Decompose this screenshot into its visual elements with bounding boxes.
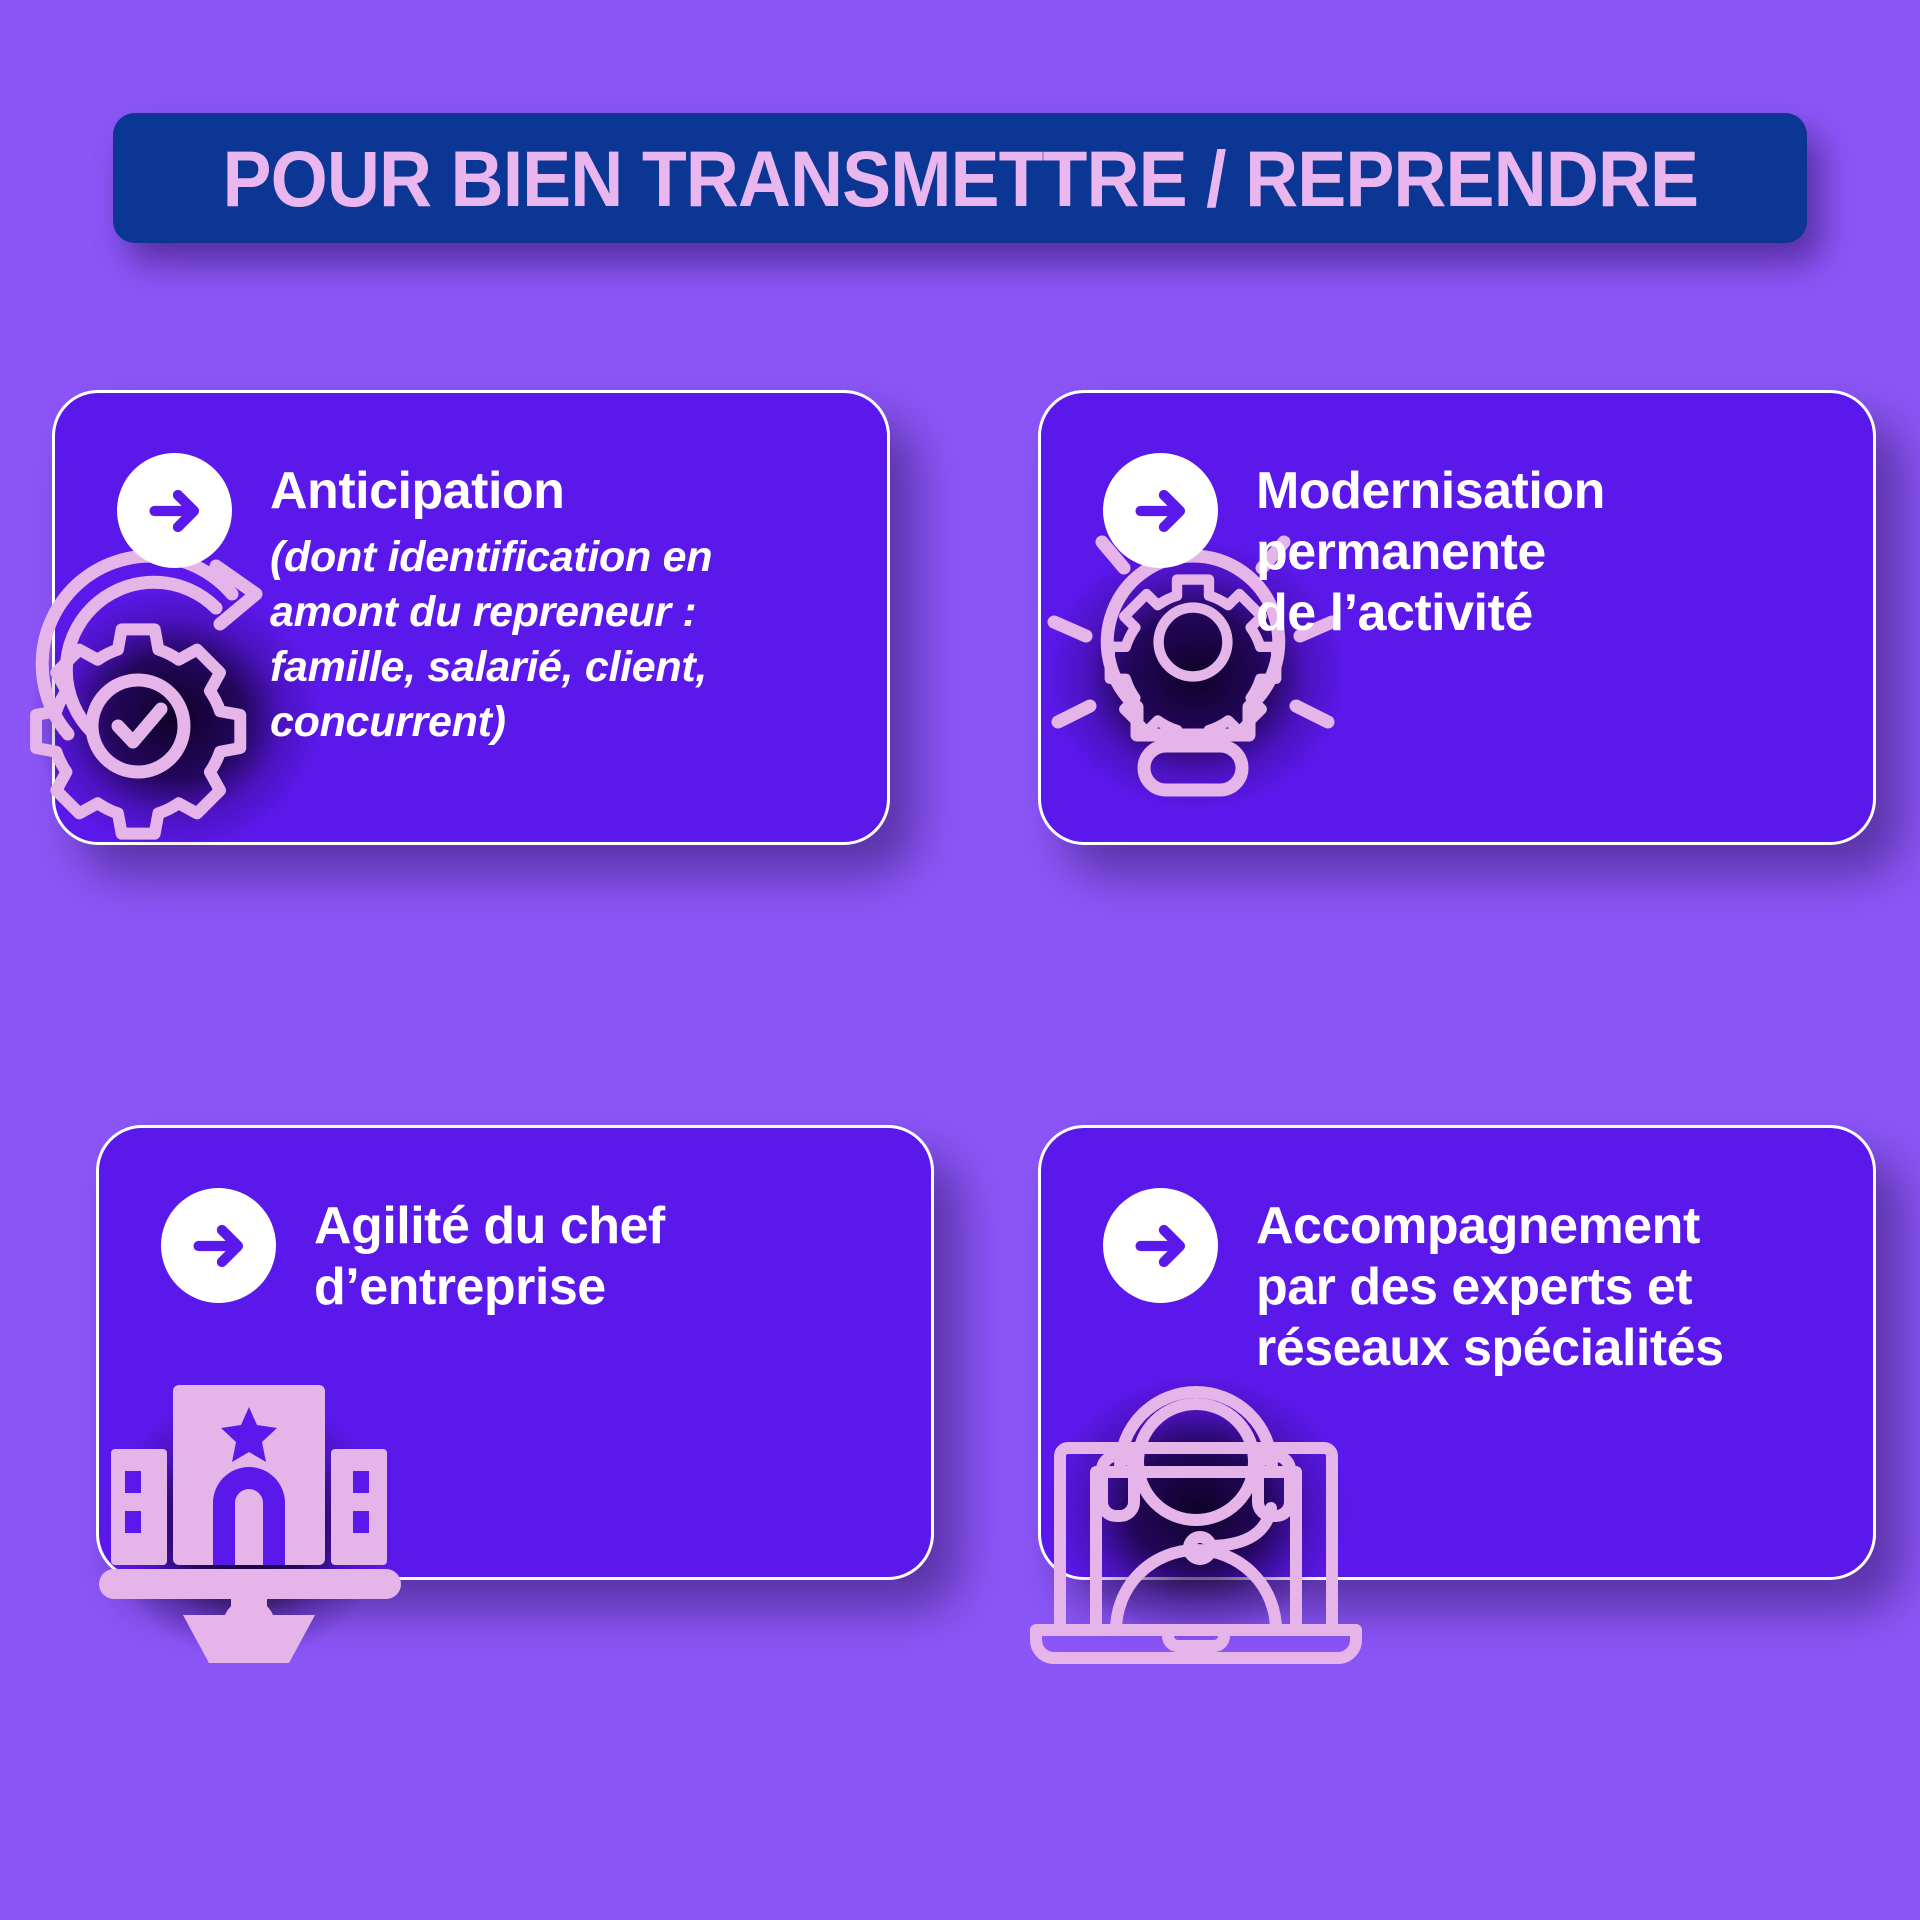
card-subtitle: (dont identification en amont du reprene… [270,530,712,750]
arrow-right-icon[interactable] [1103,453,1218,568]
cards-row-1: Anticipation (dont identification en amo… [0,390,1920,870]
card-title: Modernisation permanente de l’activité [1256,461,1605,643]
page-title-banner: POUR BIEN TRANSMETTRE / REPRENDRE [113,113,1807,243]
page-title: POUR BIEN TRANSMETTRE / REPRENDRE [222,139,1698,218]
card-text-block: Anticipation (dont identification en amo… [270,453,712,750]
card-modernisation: Modernisation permanente de l’activité [1038,390,1876,845]
card-agilite: Agilité du chef d’entreprise [96,1125,934,1580]
arrow-right-icon[interactable] [161,1188,276,1303]
card-text-block: Modernisation permanente de l’activité [1256,453,1605,651]
arrow-right-icon[interactable] [1103,1188,1218,1303]
card-anticipation: Anticipation (dont identification en amo… [52,390,890,845]
card-text-block: Accompagnement par des experts et réseau… [1256,1188,1724,1386]
card-accompagnement: Accompagnement par des experts et réseau… [1038,1125,1876,1580]
card-title: Anticipation [270,461,712,522]
card-title: Agilité du chef d’entreprise [314,1196,665,1318]
arrow-right-icon[interactable] [117,453,232,568]
card-title: Accompagnement par des experts et réseau… [1256,1196,1724,1378]
cards-row-2: Agilité du chef d’entreprise [0,1125,1920,1605]
card-text-block: Agilité du chef d’entreprise [314,1188,665,1326]
cards-grid: Anticipation (dont identification en amo… [0,390,1920,1605]
